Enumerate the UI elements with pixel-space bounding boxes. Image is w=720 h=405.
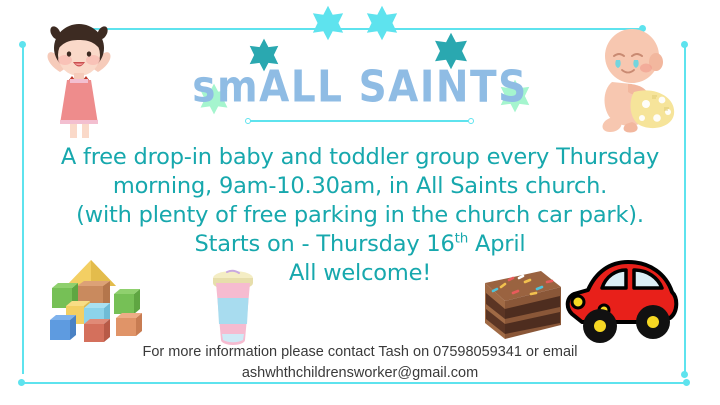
star-top-left-cyan xyxy=(310,4,346,42)
start-date-ordinal: th xyxy=(455,231,468,247)
title-divider-cap-right xyxy=(468,118,474,124)
page-title: smALL SAINTS xyxy=(0,66,720,110)
start-date-line: Starts on - Thursday 16th April xyxy=(0,230,720,259)
description-line-3: (with plenty of free parking in the chur… xyxy=(0,201,720,230)
description-line-2: morning, 9am-10.30am, in All Saints chur… xyxy=(0,172,720,201)
contact-line-1: For more information please contact Tash… xyxy=(0,342,720,363)
description-line-1: A free drop-in baby and toddler group ev… xyxy=(0,143,720,172)
poster-canvas: smALL SAINTS A free drop-in baby and tod… xyxy=(0,0,720,405)
contact-email: ashwhthchildrensworker@gmail.com xyxy=(0,363,720,384)
frame-line-top xyxy=(78,28,642,30)
contact-information: For more information please contact Tash… xyxy=(0,342,720,384)
event-description: A free drop-in baby and toddler group ev… xyxy=(0,143,720,288)
start-date-suffix: April xyxy=(468,231,525,257)
welcome-line: All welcome! xyxy=(0,259,720,288)
title-divider-line xyxy=(250,120,468,122)
poster-title-block: smALL SAINTS xyxy=(0,68,720,107)
frame-dot-left-top xyxy=(19,41,26,48)
star-top-right-cyan xyxy=(364,4,400,42)
start-date-prefix: Starts on - Thursday 16 xyxy=(195,231,455,257)
title-divider-cap-left xyxy=(245,118,251,124)
